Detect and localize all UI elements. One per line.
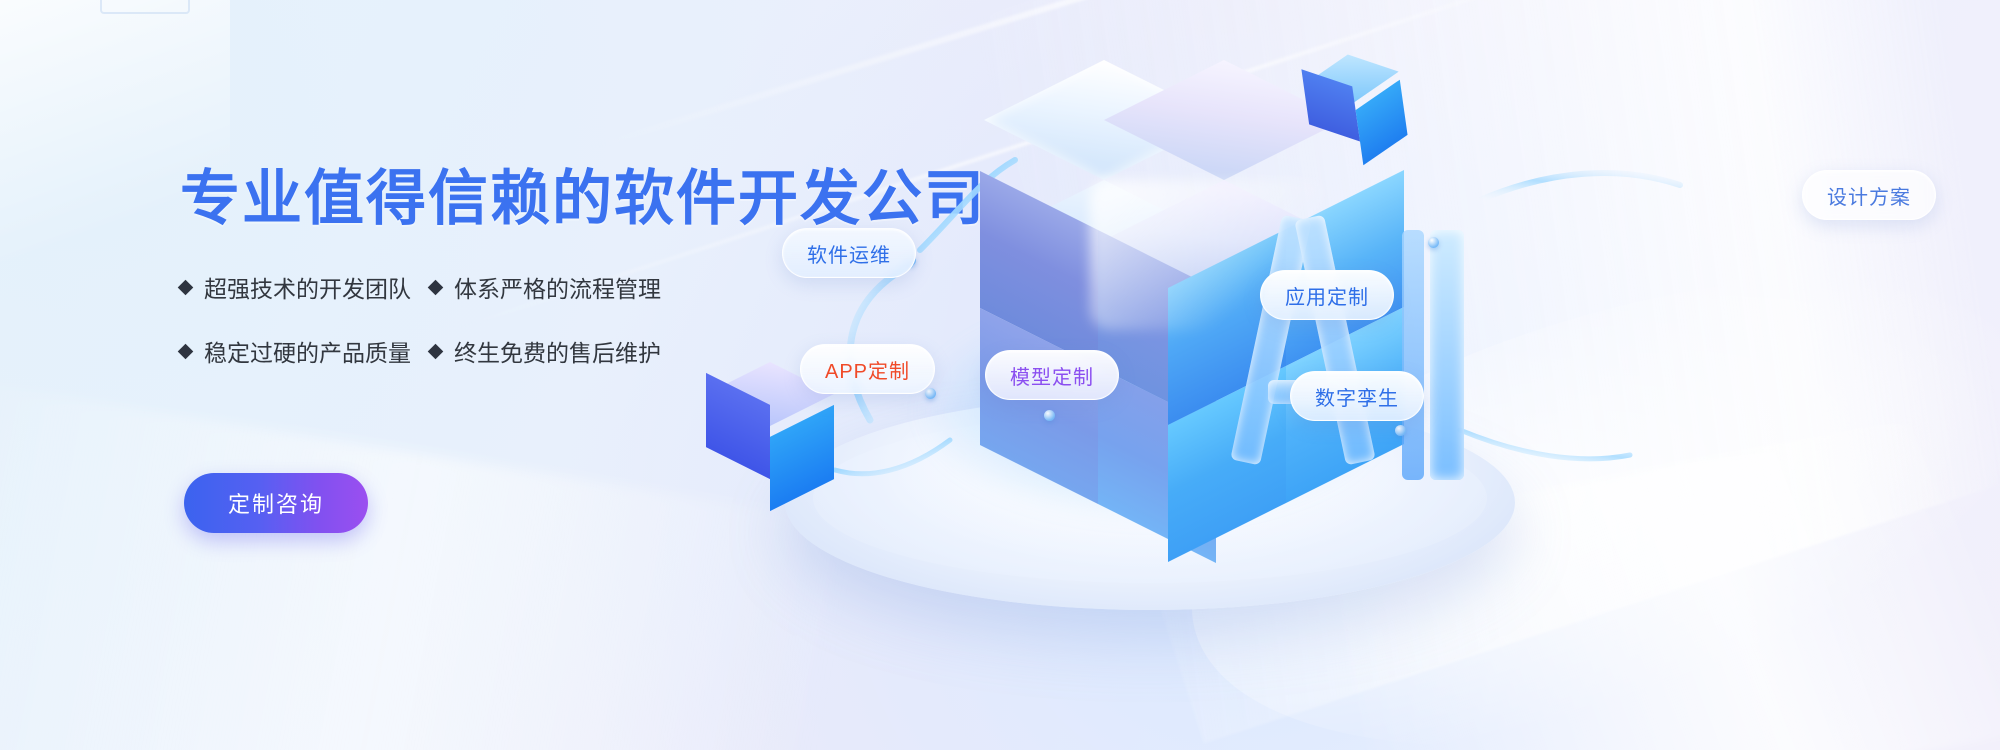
- hero-artwork: 设计方案 软件运维 应用定制 APP定制 模型定制 数字孪生: [620, 0, 2000, 750]
- diamond-bullet-icon: [178, 279, 194, 295]
- tag-design-plan[interactable]: 设计方案: [1802, 170, 1936, 220]
- connector-dot: [1428, 237, 1439, 248]
- feature-label: 稳定过硬的产品质量: [204, 334, 411, 368]
- tag-label: 应用定制: [1285, 281, 1369, 310]
- glass-letter-i-icon: [1400, 230, 1490, 480]
- connector-dot: [1044, 410, 1055, 421]
- tag-label: 数字孪生: [1315, 382, 1399, 411]
- feature-item: 超强技术的开发团队: [180, 270, 430, 304]
- tag-model-custom[interactable]: 模型定制: [985, 350, 1119, 400]
- diamond-bullet-icon: [178, 343, 194, 359]
- floating-cube-top-icon: [1302, 44, 1438, 180]
- diamond-bullet-icon: [428, 279, 444, 295]
- consult-cta-label: 定制咨询: [228, 487, 324, 519]
- tag-digital-twin[interactable]: 数字孪生: [1290, 371, 1424, 421]
- tag-label: 软件运维: [807, 239, 891, 268]
- connector-dot: [1395, 425, 1406, 436]
- tag-software-ops[interactable]: 软件运维: [782, 228, 916, 278]
- tag-app-customization[interactable]: 应用定制: [1260, 270, 1394, 320]
- connector-dot: [925, 388, 936, 399]
- tag-label: 设计方案: [1827, 181, 1911, 210]
- tag-app-custom[interactable]: APP定制: [800, 344, 935, 394]
- feature-label: 超强技术的开发团队: [204, 270, 411, 304]
- tag-label: APP定制: [825, 355, 910, 384]
- diamond-bullet-icon: [428, 343, 444, 359]
- glass-letter-a-icon: [1220, 215, 1390, 465]
- hero-banner: 专业值得信赖的软件开发公司 超强技术的开发团队 体系严格的流程管理 稳定过硬的产…: [0, 0, 2000, 750]
- consult-cta-button[interactable]: 定制咨询: [184, 473, 368, 533]
- tag-label: 模型定制: [1010, 361, 1094, 390]
- feature-item: 稳定过硬的产品质量: [180, 334, 430, 368]
